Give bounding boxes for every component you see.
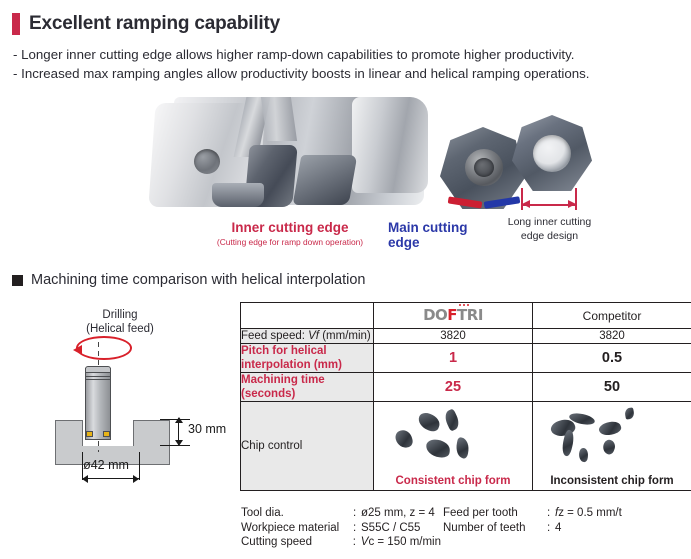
note-value: 4	[555, 521, 561, 536]
depth-arrow-up-icon	[175, 417, 183, 423]
black-square-bullet-icon	[12, 275, 23, 286]
cutter-flute-2	[261, 97, 297, 141]
table-row: Feed speed: Vf (mm/min) 3820 3820	[241, 329, 691, 344]
chip-photo-doftri: Consistent chip form	[374, 402, 533, 491]
drill-insert-left	[86, 431, 93, 437]
note-row: Tool dia. : ø25 mm, z = 4	[241, 506, 441, 521]
row-label-chip-control: Chip control	[241, 402, 374, 491]
note-value: fz = 0.5 mm/t	[555, 506, 622, 521]
header-cell-doftri: DOFTRI	[374, 303, 533, 329]
rotation-arrow-icon	[76, 336, 132, 360]
chip	[624, 407, 635, 419]
drilling-diagram: Drilling (Helical feed) 30 mm ø42 mm	[0, 300, 240, 500]
doftri-logo: DOFTRI	[374, 308, 532, 323]
chip	[416, 411, 442, 434]
note-row: Number of teeth : 4	[443, 521, 691, 536]
chip-cluster-doftri	[374, 406, 532, 468]
chip-caption-competitor: Inconsistent chip form	[533, 475, 691, 487]
bullet-line-2: - Increased max ramping angles allow pro…	[13, 65, 590, 84]
red-accent-bar-icon	[12, 13, 20, 35]
cutter-insert-3	[212, 183, 264, 207]
drilling-caption-line-2: (Helical feed)	[0, 322, 240, 336]
milling-cutter-photo	[152, 97, 472, 225]
note-key: Feed per tooth	[443, 506, 547, 521]
chip	[601, 438, 618, 456]
callout-long-title: Long inner cutting edge design	[508, 216, 591, 242]
value-doftri-feed-speed: 3820	[374, 329, 533, 344]
section-1-title: Excellent ramping capability	[29, 13, 280, 35]
chip-cluster-competitor	[533, 406, 691, 468]
header-cell-blank	[241, 303, 374, 329]
logo-part-f: F	[447, 308, 457, 323]
table-row-chip-control: Chip control Consistent chip form	[241, 402, 691, 491]
table-row: Pitch for helical interpolation (mm) 1 0…	[241, 344, 691, 373]
table-header-row: DOFTRI Competitor	[241, 303, 691, 329]
note-colon: :	[547, 521, 555, 536]
diameter-arrow-right-icon	[133, 475, 139, 483]
row-label-pitch: Pitch for helical interpolation (mm)	[241, 344, 374, 373]
note-row: Workpiece material : S55C / C55	[241, 521, 441, 536]
diameter-dimension-label: ø42 mm	[76, 458, 136, 472]
note-colon: :	[353, 506, 361, 521]
chip-caption-doftri: Consistent chip form	[374, 475, 532, 487]
depth-dimension-label: 30 mm	[188, 422, 226, 436]
logo-part-tri: TRI	[457, 308, 483, 323]
chip	[454, 437, 471, 459]
long-edge-dimension-bracket	[521, 188, 577, 210]
standalone-insert-photo	[512, 115, 592, 191]
notes-column-right: Feed per tooth : fz = 0.5 mm/t Number of…	[443, 506, 691, 535]
section-1-bullets: - Longer inner cutting edge allows highe…	[13, 46, 590, 83]
note-row: Feed per tooth : fz = 0.5 mm/t	[443, 506, 691, 521]
chip	[425, 438, 451, 458]
chip	[394, 428, 414, 450]
cutter-coolant-hole	[194, 149, 220, 174]
depth-arrow-down-icon	[175, 440, 183, 446]
section-1-heading: Excellent ramping capability	[12, 13, 280, 35]
chip	[578, 448, 588, 463]
note-colon: :	[547, 506, 555, 521]
callout-inner-title: Inner cutting edge	[185, 220, 395, 235]
value-competitor-pitch: 0.5	[533, 344, 691, 373]
cutter-shoulder	[352, 97, 428, 193]
comparison-table: DOFTRI Competitor Feed speed: Vf (mm/min…	[240, 302, 691, 491]
logo-dots-icon	[459, 304, 469, 306]
bullet-line-1: - Longer inner cutting edge allows highe…	[13, 46, 590, 65]
table-row: Machining time (seconds) 25 50	[241, 373, 691, 402]
notes-column-left: Tool dia. : ø25 mm, z = 4 Workpiece mate…	[241, 506, 441, 550]
value-doftri-pitch: 1	[374, 344, 533, 373]
drilling-diagram-caption: Drilling (Helical feed)	[0, 308, 240, 336]
callout-inner-subtitle: (Cutting edge for ramp down operation)	[185, 236, 395, 248]
rotation-arrowhead-icon	[73, 345, 82, 355]
header-cell-competitor: Competitor	[533, 303, 691, 329]
section-2-title: Machining time comparison with helical i…	[31, 272, 365, 288]
drill-insert-right	[103, 431, 110, 437]
chip-photo-competitor: Inconsistent chip form	[533, 402, 691, 491]
section-2-heading: Machining time comparison with helical i…	[12, 272, 365, 288]
drill-tool-top	[85, 366, 111, 373]
cutter-insert-2	[293, 155, 358, 205]
callout-main-cutting-edge: Main cutting edge	[388, 220, 480, 250]
note-key: Tool dia.	[241, 506, 353, 521]
note-key: Number of teeth	[443, 521, 547, 536]
callout-long-inner-edge: Long inner cutting edge design	[492, 216, 607, 243]
insert-clamp-screw-icon	[465, 149, 503, 186]
note-value: ø25 mm, z = 4	[361, 506, 435, 521]
note-key: Workpiece material	[241, 521, 353, 536]
note-row: Cutting speed : Vc = 150 m/min	[241, 535, 441, 550]
note-value: S55C / C55	[361, 521, 420, 536]
chip	[598, 419, 623, 438]
note-colon: :	[353, 521, 361, 536]
diameter-ext-line-right	[139, 452, 140, 480]
chip	[442, 408, 461, 431]
logo-part-do: DO	[423, 308, 447, 323]
value-competitor-feed-speed: 3820	[533, 329, 691, 344]
row-label-feed-speed: Feed speed: Vf (mm/min)	[241, 329, 374, 344]
row-label-machining-time: Machining time (seconds)	[241, 373, 374, 402]
standalone-insert-bore	[533, 135, 571, 172]
value-competitor-machining-time: 50	[533, 373, 691, 402]
note-value: Vc = 150 m/min	[361, 535, 441, 550]
diameter-arrow-left-icon	[82, 475, 88, 483]
note-key: Cutting speed	[241, 535, 353, 550]
note-colon: :	[353, 535, 361, 550]
drilling-caption-line-1: Drilling	[0, 308, 240, 322]
diameter-dimension-line	[82, 478, 139, 479]
bracket-arrow-left-icon	[522, 200, 530, 208]
drill-tool-band	[85, 376, 111, 380]
value-doftri-machining-time: 25	[374, 373, 533, 402]
bracket-arrow-right-icon	[568, 200, 576, 208]
callout-main-title: Main cutting edge	[388, 220, 468, 250]
callout-inner-cutting-edge: Inner cutting edge (Cutting edge for ram…	[185, 220, 395, 248]
